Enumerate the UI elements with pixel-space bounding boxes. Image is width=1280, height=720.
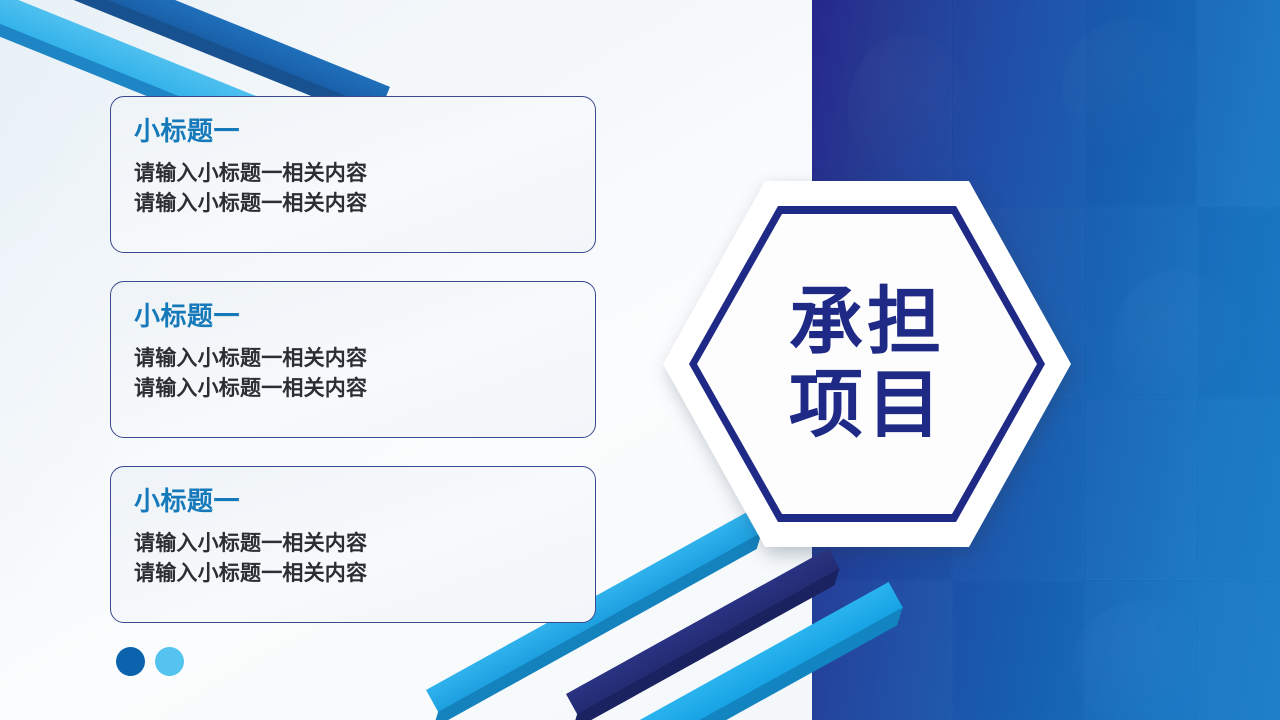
pagination-dots [116, 647, 184, 676]
content-card-2[interactable]: 小标题一 请输入小标题一相关内容 请输入小标题一相关内容 [110, 281, 596, 438]
content-card-list: 小标题一 请输入小标题一相关内容 请输入小标题一相关内容 小标题一 请输入小标题… [110, 96, 596, 651]
hexagon-badge: 承担 项目 [663, 181, 1071, 547]
hexagon-title-line-1: 承担 [789, 281, 945, 364]
card-body-line: 请输入小标题一相关内容 [134, 529, 595, 559]
content-card-1[interactable]: 小标题一 请输入小标题一相关内容 请输入小标题一相关内容 [110, 96, 596, 253]
card-title: 小标题一 [134, 304, 595, 330]
card-body-line: 请输入小标题一相关内容 [134, 189, 595, 219]
pagination-dot-active[interactable] [116, 647, 145, 676]
slide-canvas: logo 小标题一 请输入小标题一相关内容 请输入小标题一相关内容 小标题一 请… [0, 0, 1280, 720]
card-body-line: 请输入小标题一相关内容 [134, 344, 595, 374]
card-title: 小标题一 [134, 489, 595, 515]
card-body-line: 请输入小标题一相关内容 [134, 159, 595, 189]
card-title: 小标题一 [134, 119, 595, 145]
card-body-line: 请输入小标题一相关内容 [134, 559, 595, 589]
hexagon-title-line-2: 项目 [789, 364, 945, 447]
card-body-line: 请输入小标题一相关内容 [134, 374, 595, 404]
content-card-3[interactable]: 小标题一 请输入小标题一相关内容 请输入小标题一相关内容 [110, 466, 596, 623]
pagination-dot-inactive[interactable] [155, 647, 184, 676]
